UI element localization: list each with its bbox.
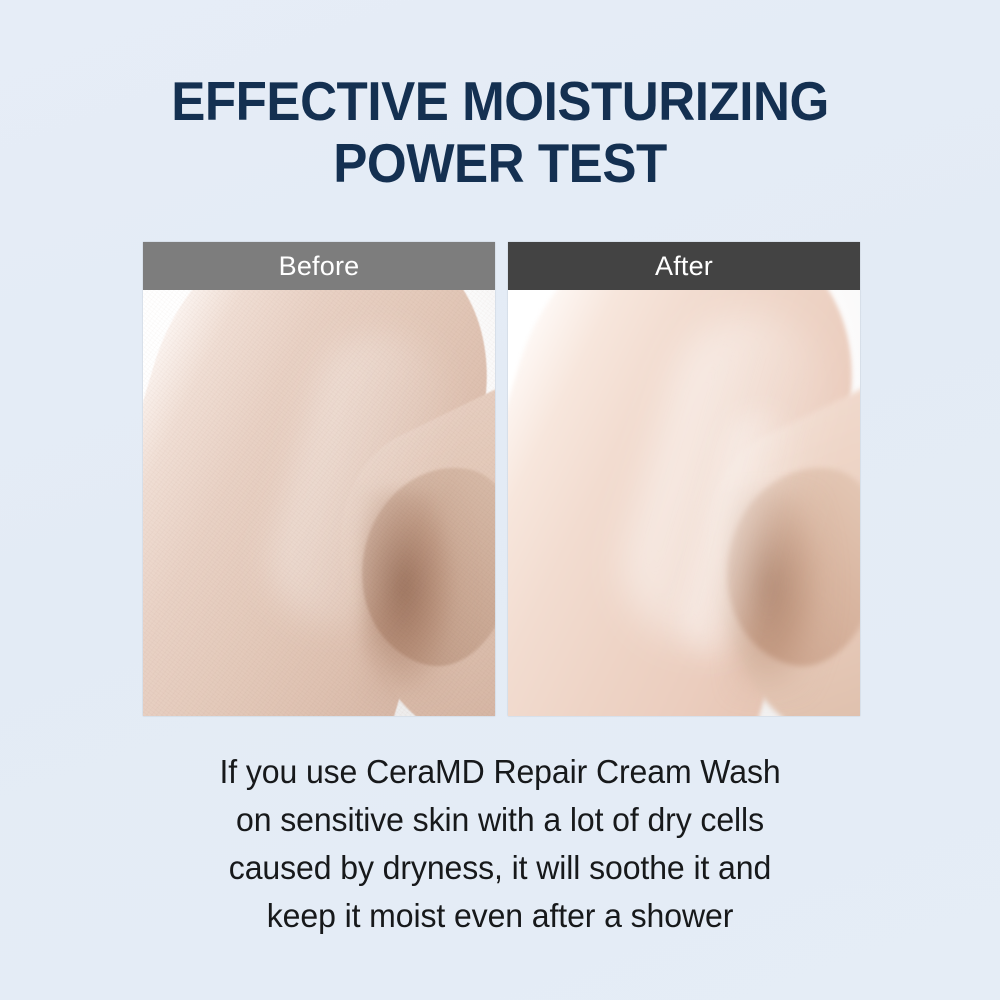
before-skin-photo	[143, 290, 495, 716]
page-title-line-2: POWER TEST	[35, 132, 965, 194]
caption-line-2: on sensitive skin with a lot of dry cell…	[15, 796, 985, 844]
after-skin-photo	[508, 290, 860, 716]
product-infographic: EFFECTIVE MOISTURIZING POWER TEST Before…	[0, 0, 1000, 1000]
caption-line-1: If you use CeraMD Repair Cream Wash	[15, 748, 985, 796]
caption-line-3: caused by dryness, it will soothe it and	[15, 844, 985, 892]
knee-crease-shadow	[726, 490, 846, 700]
page-title-line-1: EFFECTIVE MOISTURIZING	[35, 70, 965, 132]
after-label: After	[508, 242, 860, 290]
caption-line-4: keep it moist even after a shower	[15, 892, 985, 940]
page-title: EFFECTIVE MOISTURIZING POWER TEST	[0, 70, 1000, 194]
dry-skin-texture	[143, 290, 495, 716]
before-label: Before	[143, 242, 495, 290]
caption-block: If you use CeraMD Repair Cream Wash on s…	[0, 748, 1000, 940]
before-panel: Before	[143, 242, 495, 716]
after-panel: After	[508, 242, 860, 716]
before-after-comparison: Before After	[143, 242, 860, 716]
